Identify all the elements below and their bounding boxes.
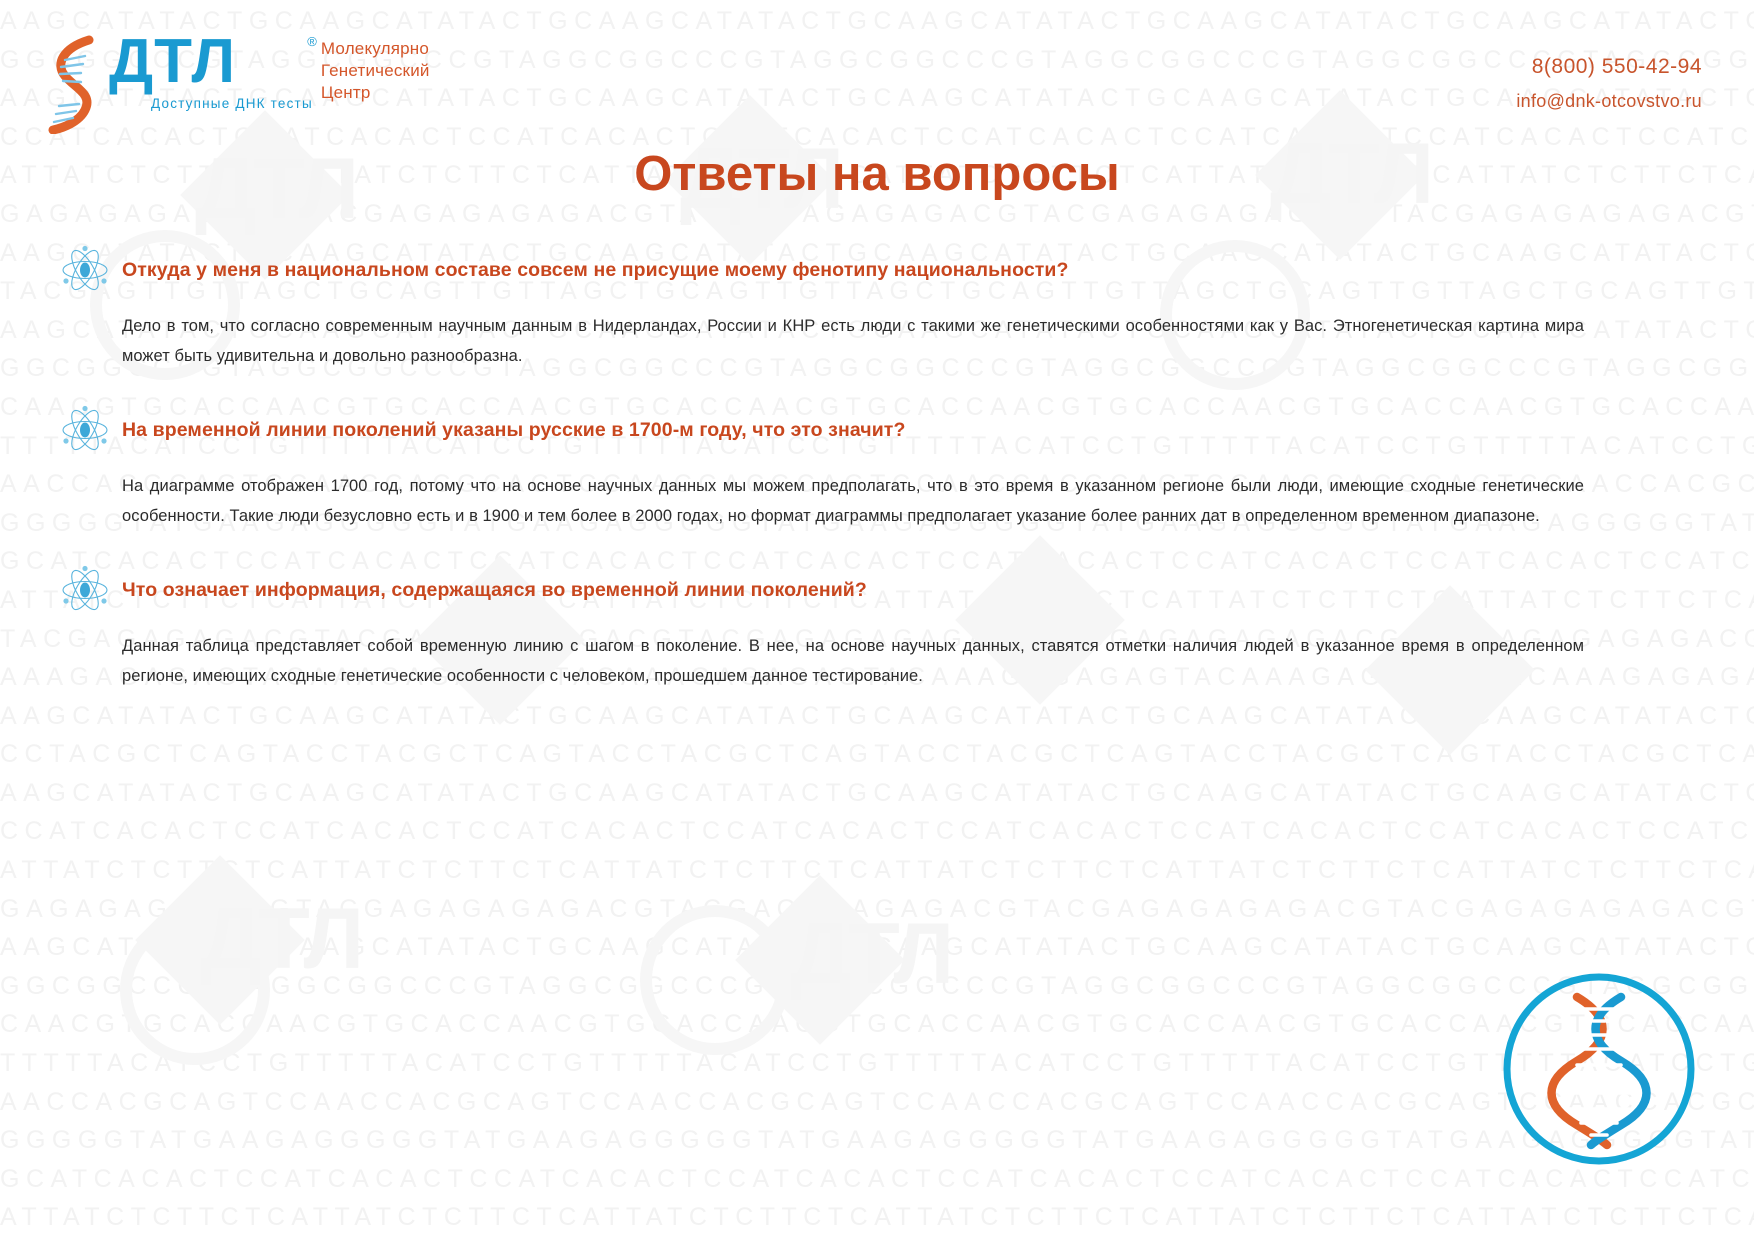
phone-number[interactable]: 8(800) 550-42-94 bbox=[1516, 55, 1702, 79]
faq-answer-text: Данная таблица представляет собой времен… bbox=[122, 631, 1584, 691]
contact-info: 8(800) 550-42-94 info@dnk-otcovstvo.ru bbox=[1516, 55, 1702, 112]
faq-item: Что означает информация, содержащаяся во… bbox=[60, 565, 1620, 691]
logo-subtitle-line1: Молекулярно bbox=[321, 38, 430, 60]
faq-question-text: Откуда у меня в национальном составе сов… bbox=[122, 258, 1069, 282]
logo-dtl-text: ДТЛ bbox=[109, 30, 313, 94]
email-address[interactable]: info@dnk-otcovstvo.ru bbox=[1516, 91, 1702, 112]
faq-answer-text: Дело в том, что согласно современным нау… bbox=[122, 311, 1584, 371]
trademark-symbol: ® bbox=[307, 34, 317, 49]
faq-question-row: На временной линии поколений указаны рус… bbox=[60, 405, 1620, 455]
logo-subtitle-line3: Центр bbox=[321, 82, 430, 104]
page-title: Ответы на вопросы bbox=[0, 146, 1754, 202]
dna-helix-icon bbox=[45, 34, 107, 134]
faq-item: Откуда у меня в национальном составе сов… bbox=[60, 245, 1620, 371]
faq-question-row: Откуда у меня в национальном составе сов… bbox=[60, 245, 1620, 295]
page-header: ДТЛ ® Доступные ДНК тесты Молекулярно Ге… bbox=[0, 0, 1754, 140]
faq-question-text: Что означает информация, содержащаяся во… bbox=[122, 578, 867, 602]
atom-icon bbox=[60, 405, 110, 455]
dna-circle-badge-icon bbox=[1499, 969, 1699, 1169]
logo-tagline: Доступные ДНК тесты bbox=[151, 96, 313, 111]
page-root: AAGCATATACTGCAAGCATATACTGCAAGCATATACTGCA… bbox=[0, 0, 1754, 1241]
faq-list: Откуда у меня в национальном составе сов… bbox=[60, 245, 1620, 709]
faq-item: На временной линии поколений указаны рус… bbox=[60, 405, 1620, 531]
brand-logo[interactable]: ДТЛ ® Доступные ДНК тесты Молекулярно Ге… bbox=[45, 30, 430, 134]
atom-icon bbox=[60, 565, 110, 615]
faq-question-row: Что означает информация, содержащаяся во… bbox=[60, 565, 1620, 615]
logo-subtitle: Молекулярно Генетический Центр bbox=[321, 38, 430, 104]
faq-question-text: На временной линии поколений указаны рус… bbox=[122, 418, 905, 442]
faq-answer-text: На диаграмме отображен 1700 год, потому … bbox=[122, 471, 1584, 531]
atom-icon bbox=[60, 245, 110, 295]
logo-wordmark: ДТЛ ® Доступные ДНК тесты bbox=[109, 30, 313, 111]
logo-subtitle-line2: Генетический bbox=[321, 60, 430, 82]
